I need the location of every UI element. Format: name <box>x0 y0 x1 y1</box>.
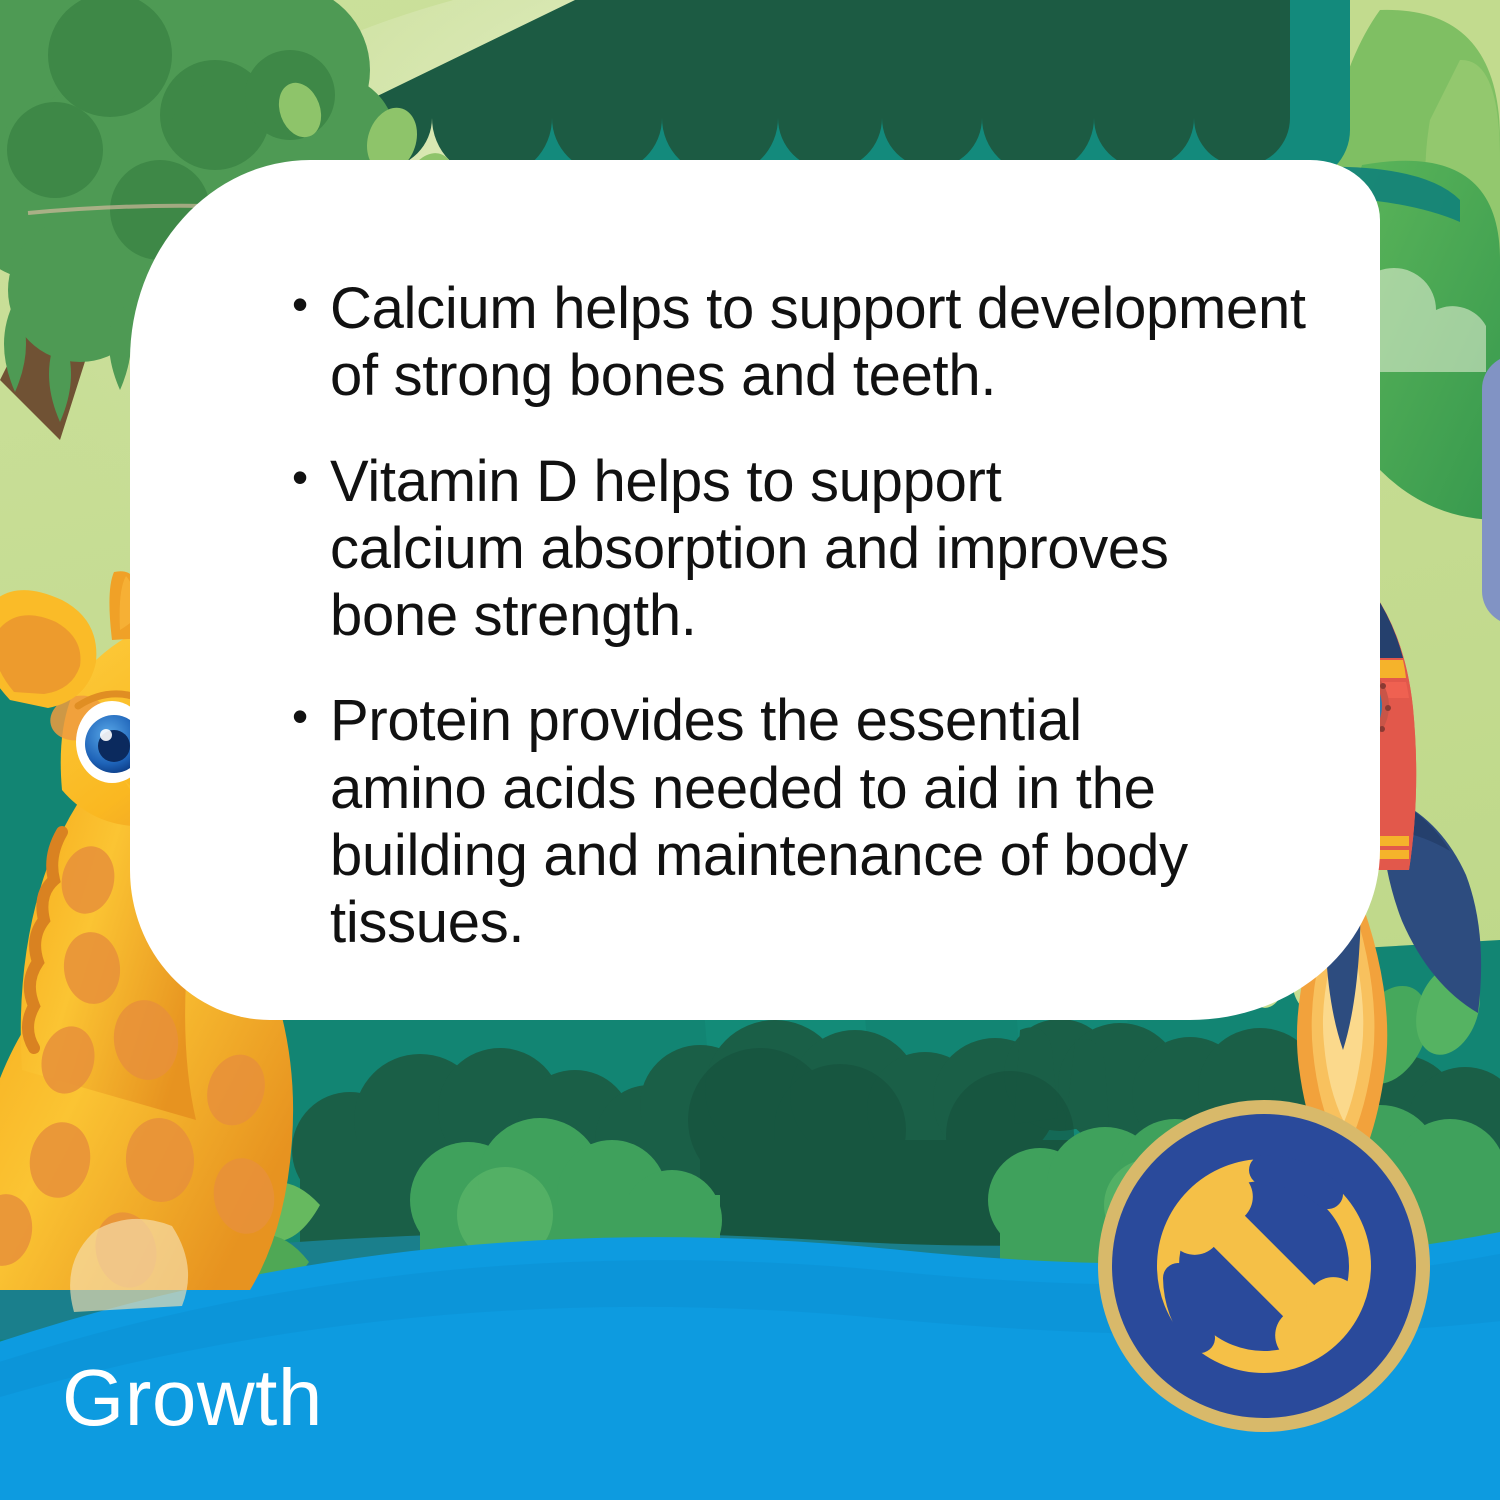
bullet-text: Vitamin D helps to support calcium absor… <box>330 448 1192 650</box>
bullet-text: Protein provides the essential amino aci… <box>330 687 1207 956</box>
bullet-text: Calcium helps to support development of … <box>330 275 1307 410</box>
bone-badge-icon <box>1096 1098 1432 1434</box>
list-item: • Protein provides the essential amino a… <box>292 687 1207 956</box>
bullet-list: • Calcium helps to support development o… <box>292 275 1322 994</box>
list-item: • Calcium helps to support development o… <box>292 275 1307 410</box>
list-item: • Vitamin D helps to support calcium abs… <box>292 448 1192 650</box>
bullet-marker-icon: • <box>292 687 330 747</box>
bullet-marker-icon: • <box>292 448 330 508</box>
page-title: Growth <box>62 1358 323 1438</box>
bullet-marker-icon: • <box>292 275 330 335</box>
poster-canvas: • Calcium helps to support development o… <box>0 0 1500 1500</box>
